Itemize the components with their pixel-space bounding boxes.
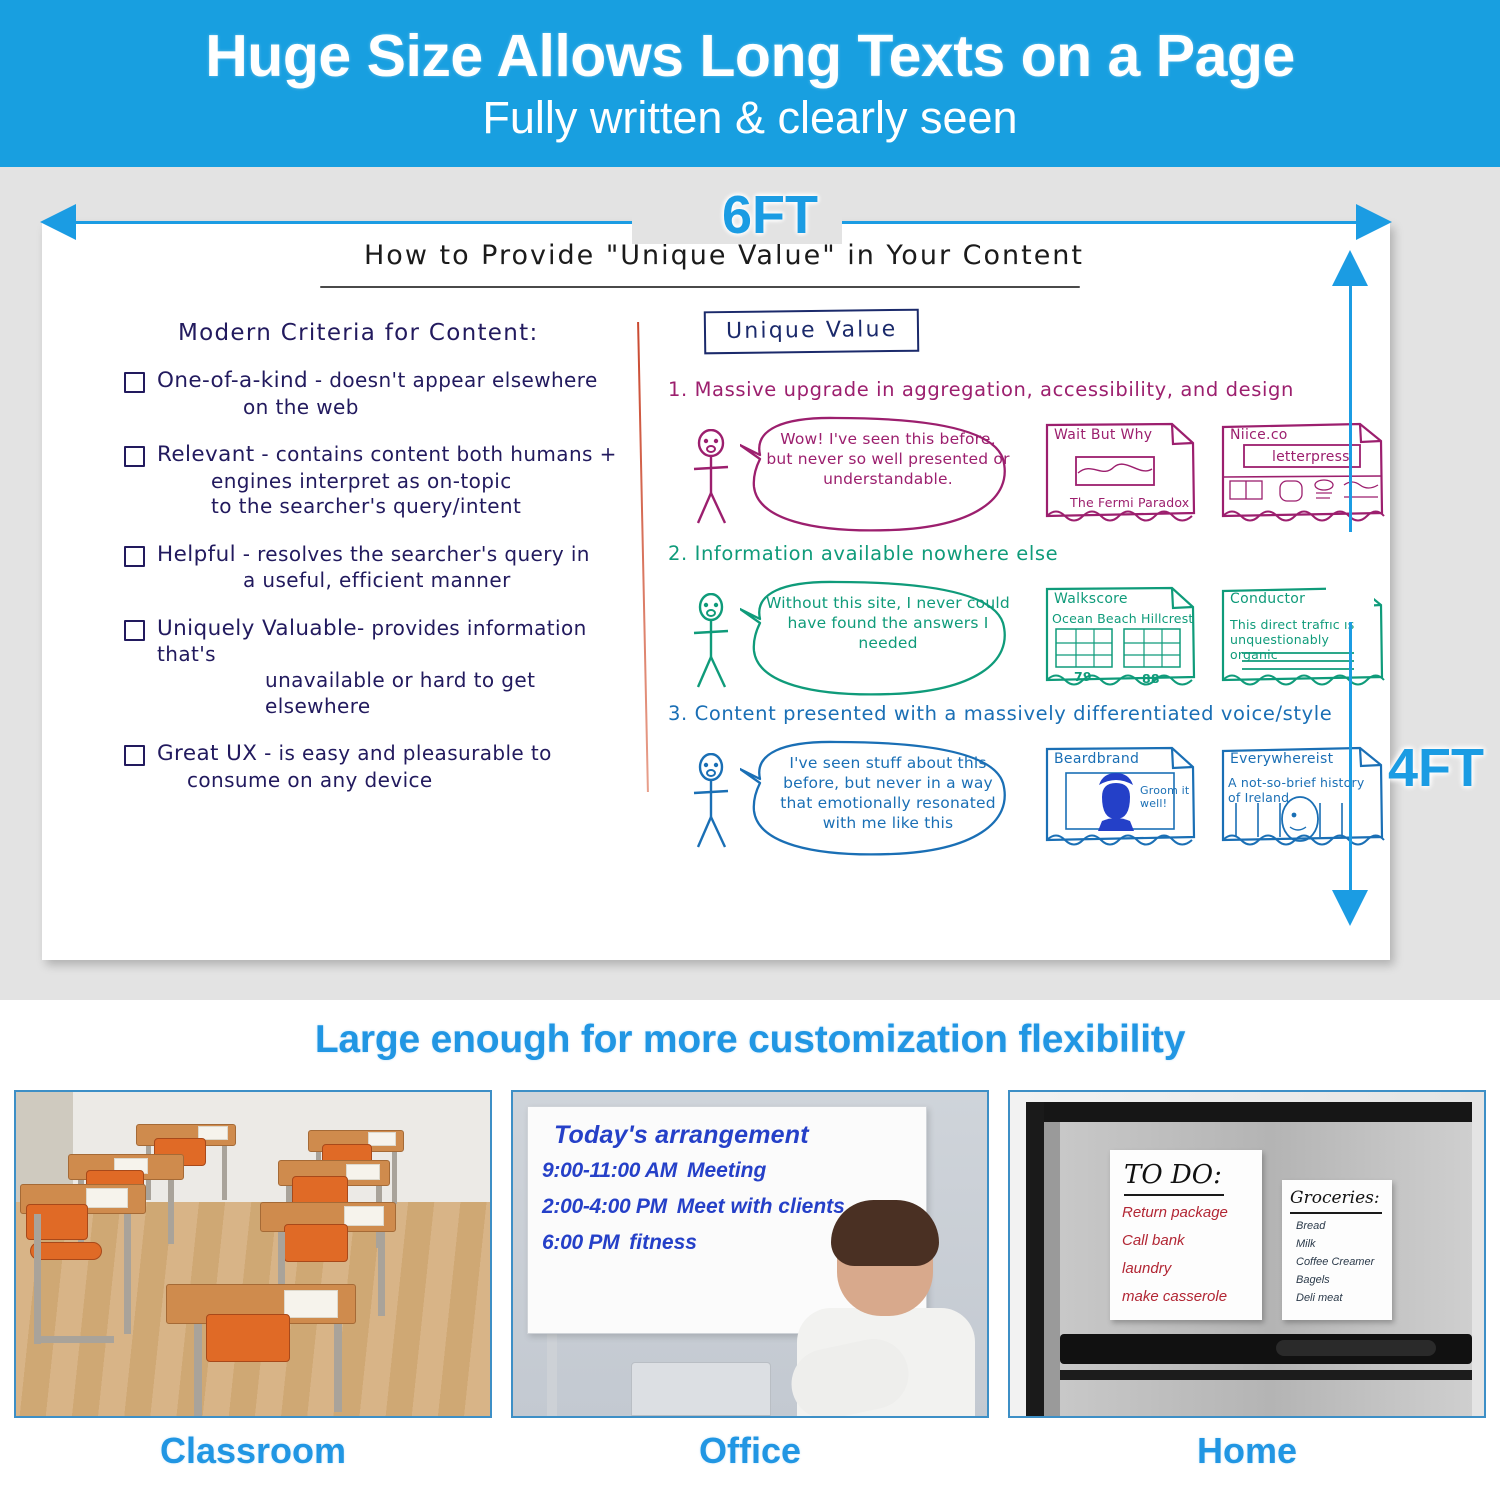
criterion-term: Relevant [157, 442, 255, 467]
desk-paper [346, 1164, 380, 1180]
checkbox-icon[interactable] [124, 372, 145, 393]
todo-item: Return package [1122, 1204, 1228, 1221]
desk-leg [334, 1324, 342, 1412]
groceries-note: Groceries: Bread Milk Coffee Creamer Bag… [1282, 1180, 1392, 1320]
card-subtitle: Ocean Beach Hillcrest [1052, 611, 1194, 626]
unique-value-badge: Unique Value [704, 309, 920, 355]
column-divider [637, 322, 649, 792]
groceries-underline [1290, 1212, 1382, 1214]
desk-leg [34, 1214, 41, 1344]
walkscore-value-b: 88 [1142, 671, 1160, 686]
grocery-item: Bread [1296, 1220, 1325, 1232]
speech-bubble-text: Without this site, I never could have fo… [766, 593, 1010, 653]
whiteboard-title-underline [320, 286, 1080, 288]
schedule-row: 9:00-11:00 AMMeeting [542, 1159, 766, 1183]
criterion-desc-2: a useful, efficient manner [157, 568, 590, 594]
desk-leg [124, 1214, 131, 1334]
criterion-item[interactable]: One-of-a-kind - doesn't appear elsewhere… [124, 367, 624, 420]
todo-item: make casserole [1122, 1288, 1227, 1305]
criteria-column: Modern Criteria for Content: One-of-a-ki… [124, 320, 624, 793]
criterion-text: One-of-a-kind - doesn't appear elsewhere… [157, 367, 598, 420]
criterion-dash: - [236, 542, 257, 566]
desk-leg [378, 1232, 385, 1316]
grocery-item: Coffee Creamer [1296, 1256, 1374, 1268]
arrow-down-icon [1332, 890, 1368, 926]
classroom-desk [166, 1284, 356, 1418]
height-label: 4FT [1388, 737, 1484, 799]
section-2-heading: 2. Information available nowhere else [668, 542, 1368, 565]
fridge-handle[interactable] [1276, 1340, 1436, 1356]
desk-chair [284, 1224, 348, 1262]
reference-card-niice: Niice.co letterpress [1220, 421, 1386, 529]
photo-captions: Classroom Office Home [0, 1430, 1500, 1490]
grocery-item: Deli meat [1296, 1292, 1342, 1304]
card-subtitle: Groom it well! [1140, 785, 1190, 810]
criterion-desc-1: is easy and pleasurable to [279, 741, 552, 765]
arrow-left-icon [40, 204, 76, 240]
desk-paper [284, 1290, 338, 1318]
schedule-row: 6:00 PMfitness [542, 1231, 697, 1255]
checkbox-icon[interactable] [124, 546, 145, 567]
card-title: Niice.co [1230, 427, 1288, 443]
criterion-desc-1: contains content both humans + [276, 442, 617, 466]
walkscore-value-a: 79 [1074, 669, 1092, 684]
desk-paper [344, 1206, 384, 1226]
use-case-photos: Today's arrangement 9:00-11:00 AMMeeting… [0, 1090, 1500, 1420]
schedule-time: 6:00 PM [542, 1231, 619, 1254]
desk-leg [194, 1324, 202, 1418]
fridge-lower-seam [1060, 1370, 1472, 1380]
section-3-illustration: I've seen stuff about this before, but n… [668, 731, 1368, 859]
criterion-desc-2: engines interpret as on-topic [157, 469, 617, 495]
schedule-time: 2:00-4:00 PM [542, 1195, 667, 1218]
page-subtitle: Fully written & clearly seen [482, 94, 1017, 141]
stick-figure-icon [692, 593, 738, 689]
card-subtitle: letterpress [1272, 449, 1350, 465]
desk-paper [86, 1188, 128, 1208]
office-person [787, 1206, 977, 1416]
criterion-text: Great UX - is easy and pleasurable to co… [157, 740, 552, 793]
photo-office: Today's arrangement 9:00-11:00 AMMeeting… [511, 1090, 989, 1418]
schedule-label: fitness [629, 1231, 697, 1254]
stick-figure-icon [692, 753, 738, 849]
section-2-illustration: Without this site, I never could have fo… [668, 571, 1368, 699]
speech-bubble-text: I've seen stuff about this before, but n… [766, 753, 1010, 834]
arrow-right-icon [1356, 204, 1392, 240]
unique-value-column: Unique Value 1. Massive upgrade in aggre… [668, 310, 1368, 353]
arrow-up-icon [1332, 250, 1368, 286]
person-hair [831, 1200, 939, 1266]
card-subtitle: This direct traffic is unquestionably or… [1230, 617, 1376, 662]
section-1: 1. Massive upgrade in aggregation, acces… [668, 378, 1368, 535]
card-subtitle: A not-so-brief history of Ireland [1228, 775, 1378, 805]
criterion-desc-3: elsewhere [157, 694, 624, 720]
desk-leg [392, 1152, 397, 1204]
criterion-dash: - [308, 368, 329, 392]
stick-figure-icon [692, 429, 738, 525]
schedule-label: Meeting [687, 1159, 766, 1182]
desk-chair [206, 1314, 290, 1362]
card-title: Wait But Why [1054, 427, 1152, 443]
desk-paper [368, 1132, 396, 1146]
whiteboard-stage: How to Provide "Unique Value" in Your Co… [0, 167, 1500, 1000]
reference-card-walkscore: Walkscore Ocean Beach Hillcrest 79 88 [1044, 585, 1196, 693]
desk-rail [34, 1336, 114, 1343]
criterion-item[interactable]: Helpful - resolves the searcher's query … [124, 541, 624, 594]
todo-note: TO DO: Return package Call bank laundry … [1110, 1150, 1262, 1320]
schedule-time: 9:00-11:00 AM [542, 1159, 677, 1182]
card-title: Conductor [1230, 591, 1305, 607]
whiteboard: How to Provide "Unique Value" in Your Co… [42, 222, 1390, 960]
criterion-item[interactable]: Great UX - is easy and pleasurable to co… [124, 740, 624, 793]
criterion-dash: - [255, 442, 276, 466]
groceries-heading: Groceries: [1290, 1188, 1380, 1208]
speech-bubble: Without this site, I never could have fo… [740, 579, 1018, 697]
todo-underline [1124, 1194, 1224, 1196]
checkbox-icon[interactable] [124, 446, 145, 467]
classroom-desk [20, 1184, 146, 1354]
criterion-desc-1: resolves the searcher's query in [257, 542, 590, 566]
criterion-dash: - [257, 741, 278, 765]
grocery-item: Milk [1296, 1238, 1316, 1250]
photo-classroom [14, 1090, 492, 1418]
speech-bubble-text: Wow! I've seen this before, but never so… [766, 429, 1010, 489]
desk-leg [222, 1146, 227, 1200]
card-title: Walkscore [1054, 591, 1128, 607]
criterion-text: Relevant - contains content both humans … [157, 441, 617, 520]
section-1-illustration: Wow! I've seen this before, but never so… [668, 407, 1368, 535]
criterion-dash: - [357, 616, 371, 640]
card-title: Beardbrand [1054, 751, 1139, 767]
office-laptop [631, 1362, 771, 1416]
grocery-item: Bagels [1296, 1274, 1330, 1286]
criterion-desc-2: on the web [157, 395, 598, 421]
checkbox-icon[interactable] [124, 620, 145, 641]
section-2: 2. Information available nowhere else [668, 542, 1368, 699]
page-title: Huge Size Allows Long Texts on a Page [205, 26, 1295, 88]
reference-card-beardbrand: Beardbrand Groom it well! [1044, 745, 1196, 853]
checkbox-icon[interactable] [124, 745, 145, 766]
reference-card-wait-but-why: Wait But Why The Fermi Paradox [1044, 421, 1196, 529]
office-board-heading: Today's arrangement [554, 1121, 809, 1150]
speech-bubble: I've seen stuff about this before, but n… [740, 739, 1018, 857]
criterion-term: One-of-a-kind [157, 368, 308, 393]
criterion-term: Helpful [157, 542, 236, 567]
fridge-top-trim [1044, 1102, 1472, 1122]
todo-item: laundry [1122, 1260, 1171, 1277]
criterion-desc-2: consume on any device [157, 768, 552, 794]
criterion-text: Helpful - resolves the searcher's query … [157, 541, 590, 594]
criteria-heading: Modern Criteria for Content: [178, 320, 624, 346]
criterion-text: Uniquely Valuable- provides information … [157, 615, 624, 719]
width-label: 6FT [680, 184, 860, 246]
reference-card-everywhereist: Everywhereist A not-so-brief history of … [1220, 745, 1386, 853]
refrigerator: TO DO: Return package Call bank laundry … [1026, 1102, 1472, 1418]
criterion-desc-3: to the searcher's query/intent [157, 494, 617, 520]
bottom-section-title: Large enough for more customization flex… [0, 1018, 1500, 1062]
criterion-term: Uniquely Valuable [157, 616, 357, 641]
section-1-heading: 1. Massive upgrade in aggregation, acces… [668, 378, 1368, 401]
office-stand [547, 1320, 557, 1416]
photo-home: TO DO: Return package Call bank laundry … [1008, 1090, 1486, 1418]
height-label-gap [1326, 532, 1374, 622]
section-3-heading: 3. Content presented with a massively di… [668, 702, 1368, 725]
criterion-desc-1: doesn't appear elsewhere [329, 368, 597, 392]
card-subtitle: The Fermi Paradox [1070, 495, 1189, 510]
todo-heading: TO DO: [1124, 1160, 1222, 1190]
criterion-item[interactable]: Uniquely Valuable- provides information … [124, 615, 624, 719]
header-banner: Huge Size Allows Long Texts on a Page Fu… [0, 0, 1500, 167]
criterion-term: Great UX [157, 741, 257, 766]
card-title: Everywhereist [1230, 751, 1333, 767]
desk-leg [168, 1180, 174, 1244]
caption-classroom: Classroom [14, 1430, 492, 1490]
todo-item: Call bank [1122, 1232, 1185, 1249]
section-3: 3. Content presented with a massively di… [668, 702, 1368, 859]
caption-office: Office [511, 1430, 989, 1490]
speech-bubble: Wow! I've seen this before, but never so… [740, 415, 1018, 533]
criterion-item[interactable]: Relevant - contains content both humans … [124, 441, 624, 520]
criterion-desc-2: unavailable or hard to get [157, 668, 624, 694]
caption-home: Home [1008, 1430, 1486, 1490]
